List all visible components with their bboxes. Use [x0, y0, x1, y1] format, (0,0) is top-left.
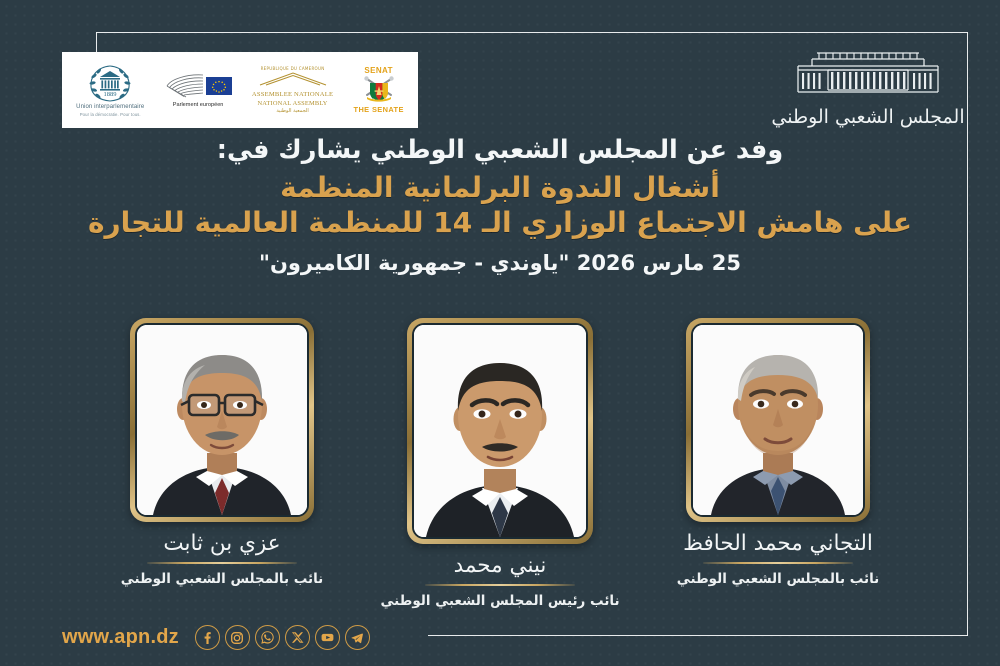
- delegate-title: نائب بالمجلس الشعبي الوطني: [677, 571, 879, 587]
- portrait-tidjani-mohamed-elhafid: [693, 325, 863, 515]
- heading-line-3: على هامش الاجتماع الوزاري الـ 14 للمنظمة…: [0, 207, 1000, 239]
- photo-inner: [135, 323, 309, 517]
- cameroon-national-assembly-logo: REPUBLIQUE DU CAMEROUN ASSEMBLEE NATIONA…: [252, 52, 333, 128]
- delegate-title: نائب بالمجلس الشعبي الوطني: [121, 571, 323, 587]
- ipu-emblem-icon: 1889: [85, 63, 135, 103]
- photo-frame: [130, 318, 314, 522]
- ipu-logo: 1889 Union interparlementaire Pour la dé…: [76, 52, 144, 128]
- frame-border-top: [96, 32, 968, 33]
- an-caption-fr: ASSEMBLEE NATIONALE: [252, 91, 333, 99]
- delegate-name: التجاني محمد الحافظ: [683, 532, 873, 556]
- delegate-name: عزي بن ثابت: [163, 532, 280, 556]
- ipu-subcaption: Pour la démocratie. Pour tous.: [76, 112, 144, 117]
- delegate-title: نائب رئيس المجلس الشعبي الوطني: [380, 593, 619, 609]
- whatsapp-icon[interactable]: [255, 625, 280, 650]
- apn-wordmark: المجلس الشعبي الوطني: [771, 108, 964, 127]
- european-parliament-logo: Parlement européen: [165, 52, 232, 128]
- heading-line-2: أشغال الندوة البرلمانية المنظمة: [0, 172, 1000, 204]
- x-twitter-icon[interactable]: [285, 625, 310, 650]
- delegate-card: عزي بن ثابت نائب بالمجلس الشعبي الوطني: [112, 318, 332, 587]
- delegate-name: نيني محمد: [454, 554, 547, 578]
- an-building-icon: [256, 71, 330, 91]
- name-divider: [703, 562, 853, 565]
- heading-intro: وفد عن المجلس الشعبي الوطني يشارك في:: [0, 136, 1000, 166]
- event-date-location: 25 مارس 2026 "ياوندي - جمهورية الكاميرون…: [0, 251, 1000, 275]
- apn-logo: المجلس الشعبي الوطني: [788, 42, 948, 128]
- delegate-card: التجاني محمد الحافظ نائب بالمجلس الشعبي …: [668, 318, 888, 587]
- senate-caption-fr: SENAT: [364, 66, 393, 75]
- senate-caption-en: THE SENATE: [354, 105, 404, 114]
- cameroon-senate-logo: SENAT: [354, 52, 404, 128]
- facebook-icon[interactable]: [195, 625, 220, 650]
- heading-block: وفد عن المجلس الشعبي الوطني يشارك في: أش…: [0, 136, 1000, 275]
- apn-parliament-building-icon: [792, 42, 944, 106]
- website-url[interactable]: www.apn.dz: [62, 626, 179, 649]
- social-links: [195, 625, 370, 650]
- youtube-icon[interactable]: [315, 625, 340, 650]
- photo-inner: [691, 323, 865, 517]
- instagram-icon[interactable]: [225, 625, 250, 650]
- photo-inner: [412, 323, 588, 539]
- ipu-caption: Union interparlementaire Pour la démocra…: [76, 104, 144, 117]
- photo-frame: [686, 318, 870, 522]
- poster-canvas: 1889 Union interparlementaire Pour la dé…: [0, 0, 1000, 666]
- photo-frame: [407, 318, 593, 544]
- ep-emblem-icon: [165, 73, 232, 99]
- senate-coat-of-arms-icon: [362, 76, 396, 104]
- partner-logos-strip: 1889 Union interparlementaire Pour la dé…: [62, 52, 418, 128]
- frame-border-bottom: [428, 635, 968, 636]
- portrait-azzi-ben-thabet: [137, 325, 307, 515]
- name-divider: [147, 562, 297, 565]
- an-subcaption: الجمعية الوطنية: [276, 108, 308, 114]
- footer-bar: www.apn.dz: [62, 625, 370, 650]
- ep-caption: Parlement européen: [173, 102, 224, 108]
- delegate-card: نيني محمد نائب رئيس المجلس الشعبي الوطني: [390, 318, 610, 609]
- an-caption-en: NATIONAL ASSEMBLY: [257, 100, 327, 108]
- name-divider: [425, 584, 575, 587]
- ipu-year: 1889: [104, 91, 117, 98]
- delegation-members: التجاني محمد الحافظ نائب بالمجلس الشعبي …: [0, 318, 1000, 609]
- eu-flag-icon: [206, 77, 232, 95]
- telegram-icon[interactable]: [345, 625, 370, 650]
- portrait-nini-mohamed: [414, 325, 586, 537]
